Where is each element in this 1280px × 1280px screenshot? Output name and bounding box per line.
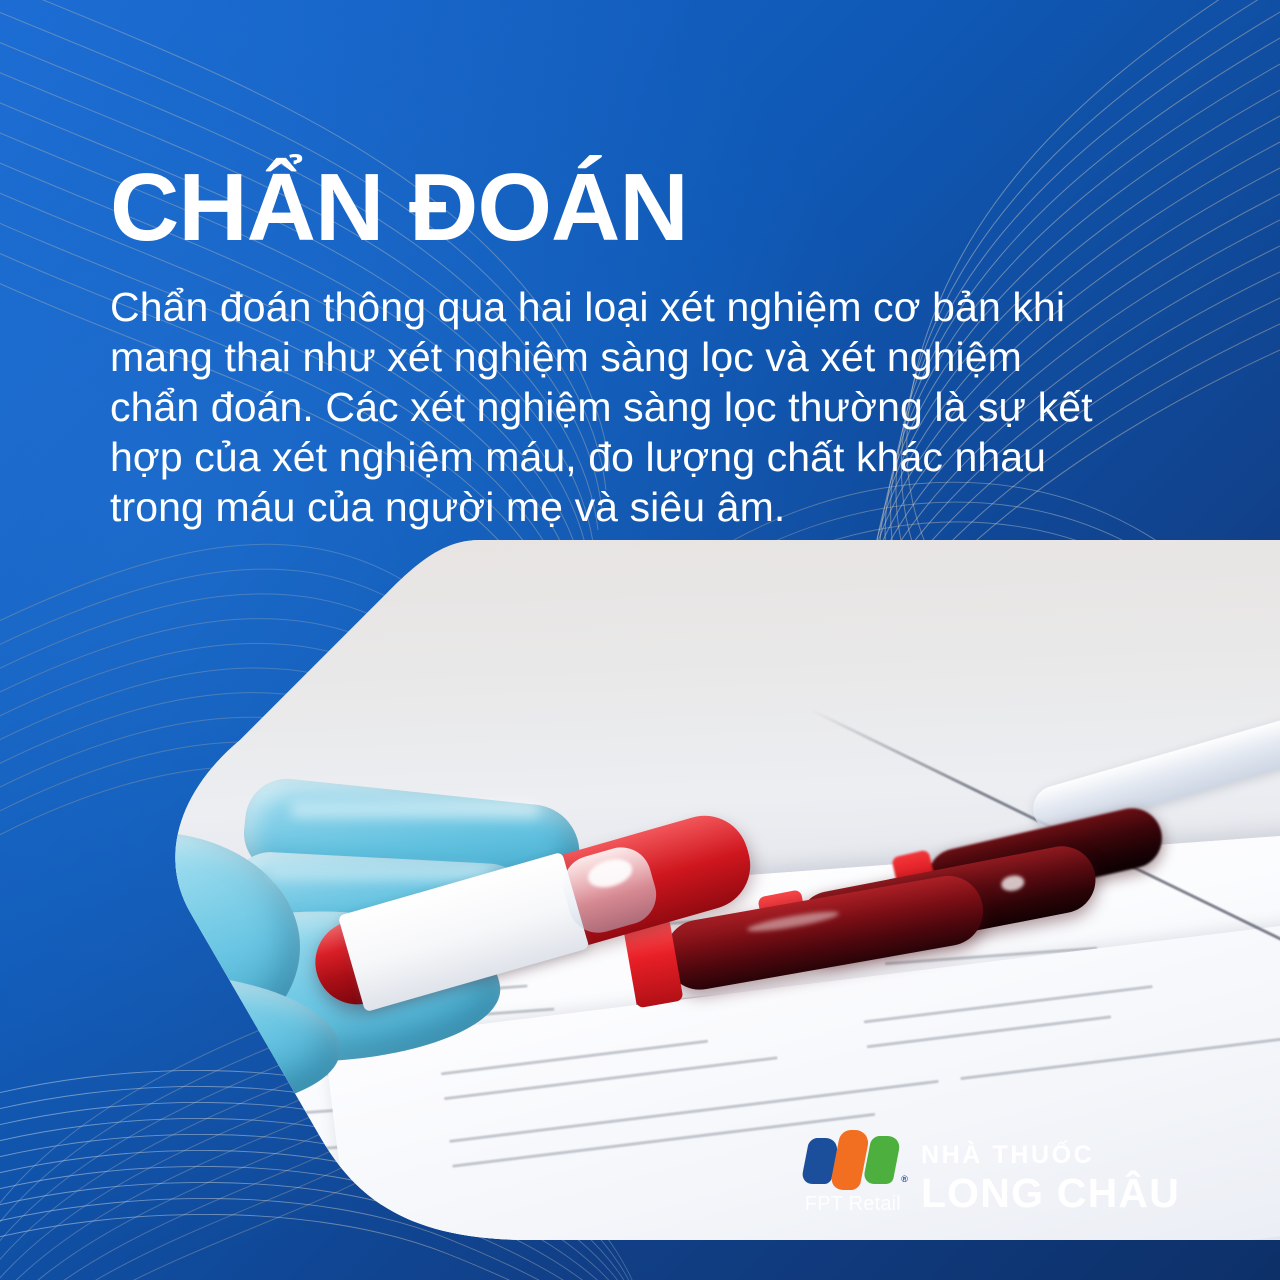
logo-bar-orange bbox=[829, 1130, 871, 1190]
body-line-4: hợp của xét nghiệm máu, đo lượng chất kh… bbox=[110, 432, 1155, 482]
fpt-retail-label: FPT Retail bbox=[805, 1193, 901, 1216]
poster-canvas: CHẨN ĐOÁN Chẩn đoán thông qua hai loại x… bbox=[0, 0, 1280, 1280]
logo-mark-column: ® FPT Retail bbox=[805, 1132, 901, 1216]
brand-line-1: NHÀ THUỐC bbox=[921, 1143, 1180, 1168]
body-line-1: Chẩn đoán thông qua hai loại xét nghiệm … bbox=[110, 282, 1155, 332]
body-paragraph: Chẩn đoán thông qua hai loại xét nghiệm … bbox=[110, 282, 1155, 532]
brand-line-2: LONG CHÂU bbox=[921, 1173, 1180, 1214]
brand-wordmark: NHÀ THUỐC LONG CHÂU bbox=[921, 1143, 1180, 1216]
text-block: CHẨN ĐOÁN Chẩn đoán thông qua hai loại x… bbox=[110, 160, 1170, 532]
brand-logo[interactable]: ® FPT Retail NHÀ THUỐC LONG CHÂU bbox=[805, 1132, 1180, 1216]
body-line-5: trong máu của người mẹ và siêu âm. bbox=[110, 482, 1155, 532]
fpt-retail-mark-icon: ® bbox=[805, 1132, 901, 1188]
body-line-2: mang thai như xét nghiệm sàng lọc và xét… bbox=[110, 332, 1155, 382]
glove-highlight bbox=[290, 802, 540, 818]
glove-highlight-2 bbox=[270, 868, 490, 880]
registered-trademark-icon: ® bbox=[901, 1174, 908, 1184]
page-title: CHẨN ĐOÁN bbox=[110, 160, 1170, 256]
body-line-3: chẩn đoán. Các xét nghiệm sàng lọc thườn… bbox=[110, 382, 1155, 432]
